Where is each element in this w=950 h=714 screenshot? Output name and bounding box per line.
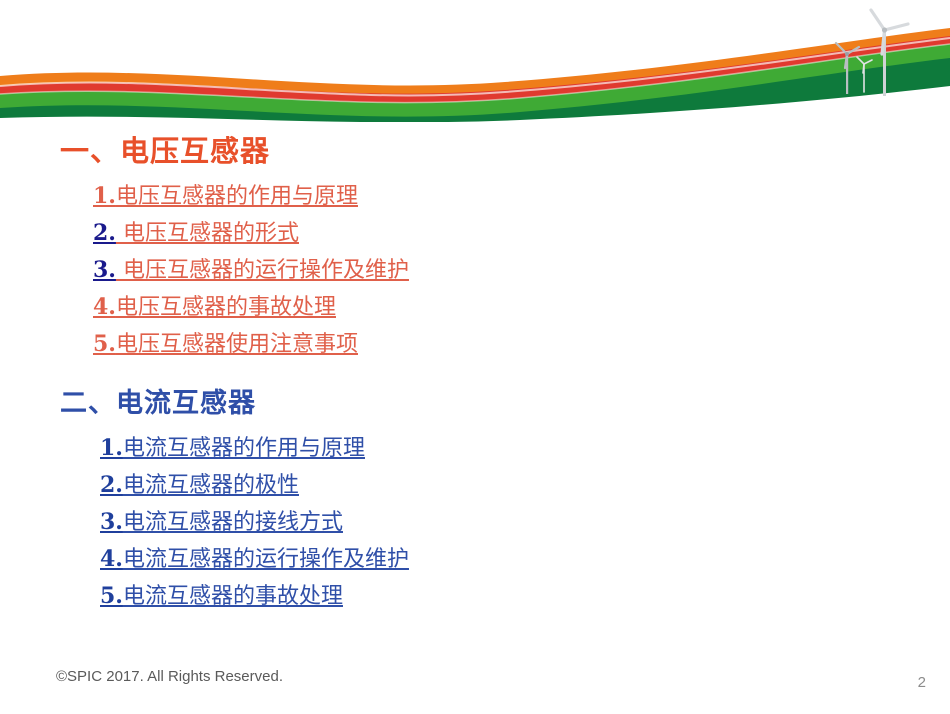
header-swoosh-graphic [0, 0, 950, 122]
list-item: 1.电流互感器的作用与原理 [100, 430, 700, 467]
list-item: 4.电压互感器的事故处理 [93, 289, 693, 326]
list-item-label: 电压互感器的事故处理 [116, 295, 336, 320]
list-item-number: 2. [93, 220, 116, 246]
list-item: 4.电流互感器的运行操作及维护 [100, 541, 700, 578]
slide: 一、电压互感器 1.电压互感器的作用与原理 2. 电压互感器的形式 3. 电压互… [0, 0, 950, 714]
list-item: 5.电压互感器使用注意事项 [93, 326, 693, 363]
section-2-list: 1.电流互感器的作用与原理 2.电流互感器的极性 3.电流互感器的接线方式 4.… [100, 430, 700, 615]
list-item-number: 5. [93, 331, 116, 357]
list-item-number: 5. [100, 583, 123, 609]
list-item: 2.电流互感器的极性 [100, 467, 700, 504]
list-item: 3. 电压互感器的运行操作及维护 [93, 252, 693, 289]
list-item-label: 电压互感器使用注意事项 [116, 332, 358, 357]
section-1-title: 一、电压互感器 [60, 128, 270, 170]
section-2-title: 二、电流互感器 [60, 381, 256, 420]
list-item-label: 电流互感器的事故处理 [123, 584, 343, 609]
list-item-number: 3. [93, 257, 116, 283]
section-1-list: 1.电压互感器的作用与原理 2. 电压互感器的形式 3. 电压互感器的运行操作及… [93, 178, 693, 363]
list-item-label: 电压互感器的作用与原理 [116, 184, 358, 209]
copyright-notice: ©SPIC 2017. All Rights Reserved. [56, 668, 283, 685]
list-item-label: 电压互感器的形式 [116, 221, 299, 246]
list-item: 2. 电压互感器的形式 [93, 215, 693, 252]
slide-content: 一、电压互感器 1.电压互感器的作用与原理 2. 电压互感器的形式 3. 电压互… [0, 122, 950, 642]
wind-turbine-icon [812, 2, 922, 102]
list-item: 1.电压互感器的作用与原理 [93, 178, 693, 215]
list-item-label: 电流互感器的作用与原理 [123, 436, 365, 461]
list-item-number: 2. [100, 472, 123, 498]
list-item-number: 4. [93, 294, 116, 320]
list-item-number: 3. [100, 509, 123, 535]
page-number: 2 [918, 674, 926, 691]
list-item-label: 电压互感器的运行操作及维护 [116, 258, 409, 283]
list-item: 5.电流互感器的事故处理 [100, 578, 700, 615]
list-item: 3.电流互感器的接线方式 [100, 504, 700, 541]
header-decorative-band [0, 0, 950, 122]
list-item-number: 1. [100, 435, 123, 461]
list-item-number: 1. [93, 183, 116, 209]
list-item-label: 电流互感器的极性 [123, 473, 299, 498]
list-item-number: 4. [100, 546, 123, 572]
list-item-label: 电流互感器的接线方式 [123, 510, 343, 535]
list-item-label: 电流互感器的运行操作及维护 [123, 547, 409, 572]
